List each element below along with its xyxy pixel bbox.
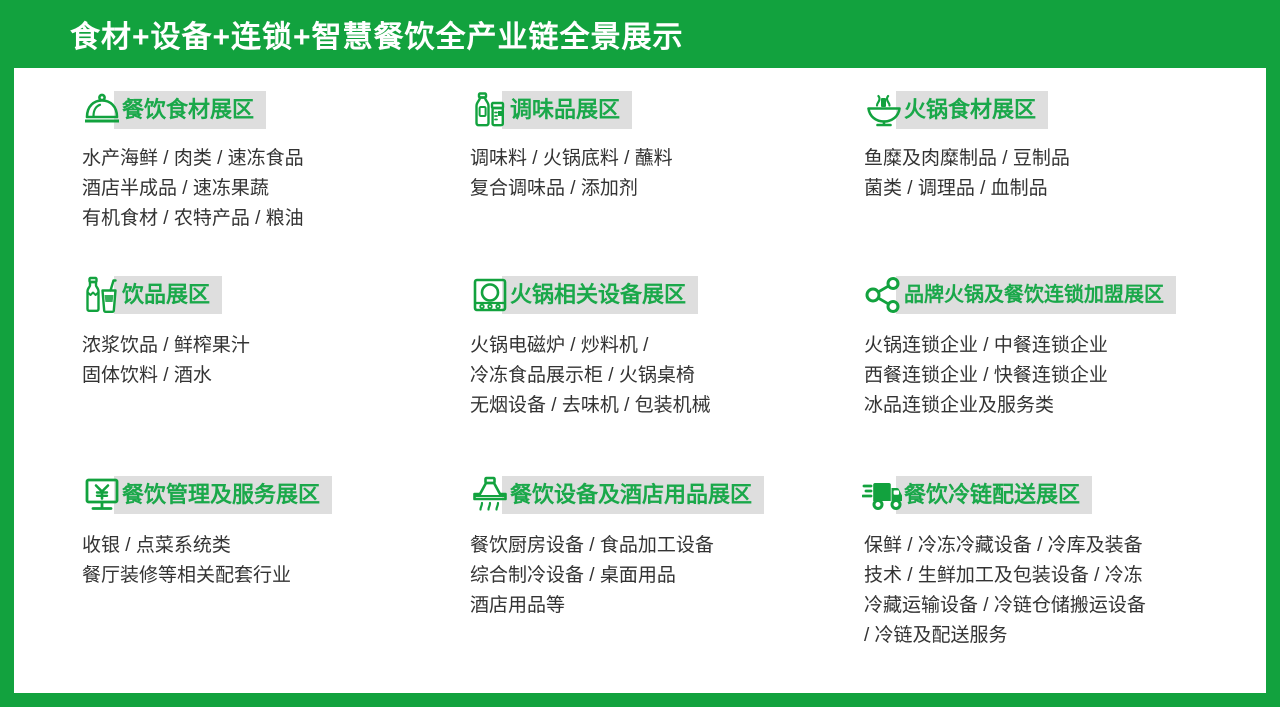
zone-line: 技术 / 生鲜加工及包装设备 / 冷冻 xyxy=(864,561,1252,591)
zone-card-cold-chain: 餐饮冷链配送展区 保鲜 / 冷冻冷藏设备 / 冷库及装备 技术 / 生鲜加工及包… xyxy=(862,475,1266,693)
zone-line: 酒店半成品 / 速冻果蔬 xyxy=(82,174,454,204)
cloche-icon xyxy=(80,90,124,130)
zone-lines: 火锅电磁炉 / 炒料机 / 冷冻食品展示柜 / 火锅桌椅 无烟设备 / 去味机 … xyxy=(470,331,848,421)
zone-lines: 鱼糜及肉糜制品 / 豆制品 菌类 / 调理品 / 血制品 xyxy=(864,144,1252,204)
hotpot-bowl-icon xyxy=(862,90,906,130)
zone-title: 火锅食材展区 xyxy=(896,91,1048,129)
zone-lines: 调味料 / 火锅底料 / 蘸料 复合调味品 / 添加剂 xyxy=(470,144,848,204)
zone-lines: 浓浆饮品 / 鲜榨果汁 固体饮料 / 酒水 xyxy=(82,331,454,391)
zone-card-hotpot-ingredients: 火锅食材展区 鱼糜及肉糜制品 / 豆制品 菌类 / 调理品 / 血制品 xyxy=(862,90,1266,275)
bottle-and-cup-icon xyxy=(80,275,124,315)
zone-line: / 冷链及配送服务 xyxy=(864,621,1252,651)
zone-header: 火锅相关设备展区 xyxy=(468,275,848,315)
zone-card-beverages: 饮品展区 浓浆饮品 / 鲜榨果汁 固体饮料 / 酒水 xyxy=(80,275,468,475)
zone-lines: 餐饮厨房设备 / 食品加工设备 综合制冷设备 / 桌面用品 酒店用品等 xyxy=(470,531,848,621)
zone-line: 复合调味品 / 添加剂 xyxy=(470,174,848,204)
zone-header: 餐饮设备及酒店用品展区 xyxy=(468,475,848,515)
zone-line: 鱼糜及肉糜制品 / 豆制品 xyxy=(864,144,1252,174)
zone-line: 火锅电磁炉 / 炒料机 / xyxy=(470,331,848,361)
zone-title: 餐饮冷链配送展区 xyxy=(896,476,1092,514)
induction-cooker-icon xyxy=(468,275,512,315)
zone-lines: 收银 / 点菜系统类 餐厅装修等相关配套行业 xyxy=(82,531,454,591)
zone-line: 冷冻食品展示柜 / 火锅桌椅 xyxy=(470,361,848,391)
zone-lines: 火锅连锁企业 / 中餐连锁企业 西餐连锁企业 / 快餐连锁企业 冰品连锁企业及服… xyxy=(864,331,1252,421)
zone-title: 品牌火锅及餐饮连锁加盟展区 xyxy=(896,276,1176,314)
delivery-truck-icon xyxy=(862,475,906,515)
zone-line: 餐厅装修等相关配套行业 xyxy=(82,561,454,591)
zone-line: 收银 / 点菜系统类 xyxy=(82,531,454,561)
zone-line: 火锅连锁企业 / 中餐连锁企业 xyxy=(864,331,1252,361)
zone-header: 火锅食材展区 xyxy=(862,90,1252,130)
seasoning-bottles-icon xyxy=(468,90,512,130)
poster-root: 食材+设备+连锁+智慧餐饮全产业链全景展示 xyxy=(0,0,1280,707)
zone-header: 餐饮食材展区 xyxy=(80,90,454,130)
exhibition-zone-grid: 餐饮食材展区 水产海鲜 / 肉类 / 速冻食品 酒店半成品 / 速冻果蔬 有机食… xyxy=(14,68,1266,693)
zone-header: 饮品展区 xyxy=(80,275,454,315)
zone-card-brand-franchise: 品牌火锅及餐饮连锁加盟展区 火锅连锁企业 / 中餐连锁企业 西餐连锁企业 / 快… xyxy=(862,275,1266,475)
zone-line: 酒店用品等 xyxy=(470,591,848,621)
zone-title: 调味品展区 xyxy=(502,91,632,129)
zone-title: 餐饮设备及酒店用品展区 xyxy=(502,476,764,514)
zone-title: 餐饮管理及服务展区 xyxy=(114,476,332,514)
zone-card-hotpot-equipment: 火锅相关设备展区 火锅电磁炉 / 炒料机 / 冷冻食品展示柜 / 火锅桌椅 无烟… xyxy=(468,275,862,475)
zone-card-seasoning: 调味品展区 调味料 / 火锅底料 / 蘸料 复合调味品 / 添加剂 xyxy=(468,90,862,275)
zone-line: 综合制冷设备 / 桌面用品 xyxy=(470,561,848,591)
share-network-icon xyxy=(862,275,906,315)
zone-line: 固体饮料 / 酒水 xyxy=(82,361,454,391)
zone-lines: 保鲜 / 冷冻冷藏设备 / 冷库及装备 技术 / 生鲜加工及包装设备 / 冷冻 … xyxy=(864,531,1252,651)
zone-card-management-service: 餐饮管理及服务展区 收银 / 点菜系统类 餐厅装修等相关配套行业 xyxy=(80,475,468,693)
zone-title: 餐饮食材展区 xyxy=(114,91,266,129)
zone-line: 保鲜 / 冷冻冷藏设备 / 冷库及装备 xyxy=(864,531,1252,561)
zone-line: 西餐连锁企业 / 快餐连锁企业 xyxy=(864,361,1252,391)
zone-line: 冰品连锁企业及服务类 xyxy=(864,391,1252,421)
zone-header: 餐饮管理及服务展区 xyxy=(80,475,454,515)
zone-card-equipment-hotel-supplies: 餐饮设备及酒店用品展区 餐饮厨房设备 / 食品加工设备 综合制冷设备 / 桌面用… xyxy=(468,475,862,693)
zone-card-catering-ingredients: 餐饮食材展区 水产海鲜 / 肉类 / 速冻食品 酒店半成品 / 速冻果蔬 有机食… xyxy=(80,90,468,275)
content-panel: 餐饮食材展区 水产海鲜 / 肉类 / 速冻食品 酒店半成品 / 速冻果蔬 有机食… xyxy=(14,68,1266,693)
zone-header: 餐饮冷链配送展区 xyxy=(862,475,1252,515)
pos-monitor-icon xyxy=(80,475,124,515)
zone-line: 有机食材 / 农特产品 / 粮油 xyxy=(82,204,454,234)
zone-header: 调味品展区 xyxy=(468,90,848,130)
zone-header: 品牌火锅及餐饮连锁加盟展区 xyxy=(862,275,1252,315)
zone-line: 无烟设备 / 去味机 / 包装机械 xyxy=(470,391,848,421)
zone-title: 饮品展区 xyxy=(114,276,222,314)
page-title: 食材+设备+连锁+智慧餐饮全产业链全景展示 xyxy=(70,12,684,56)
zone-title: 火锅相关设备展区 xyxy=(502,276,698,314)
range-hood-icon xyxy=(468,475,512,515)
zone-line: 菌类 / 调理品 / 血制品 xyxy=(864,174,1252,204)
banner: 食材+设备+连锁+智慧餐饮全产业链全景展示 xyxy=(0,0,1280,68)
zone-line: 水产海鲜 / 肉类 / 速冻食品 xyxy=(82,144,454,174)
zone-line: 调味料 / 火锅底料 / 蘸料 xyxy=(470,144,848,174)
zone-line: 浓浆饮品 / 鲜榨果汁 xyxy=(82,331,454,361)
zone-line: 餐饮厨房设备 / 食品加工设备 xyxy=(470,531,848,561)
zone-line: 冷藏运输设备 / 冷链仓储搬运设备 xyxy=(864,591,1252,621)
zone-lines: 水产海鲜 / 肉类 / 速冻食品 酒店半成品 / 速冻果蔬 有机食材 / 农特产… xyxy=(82,144,454,234)
